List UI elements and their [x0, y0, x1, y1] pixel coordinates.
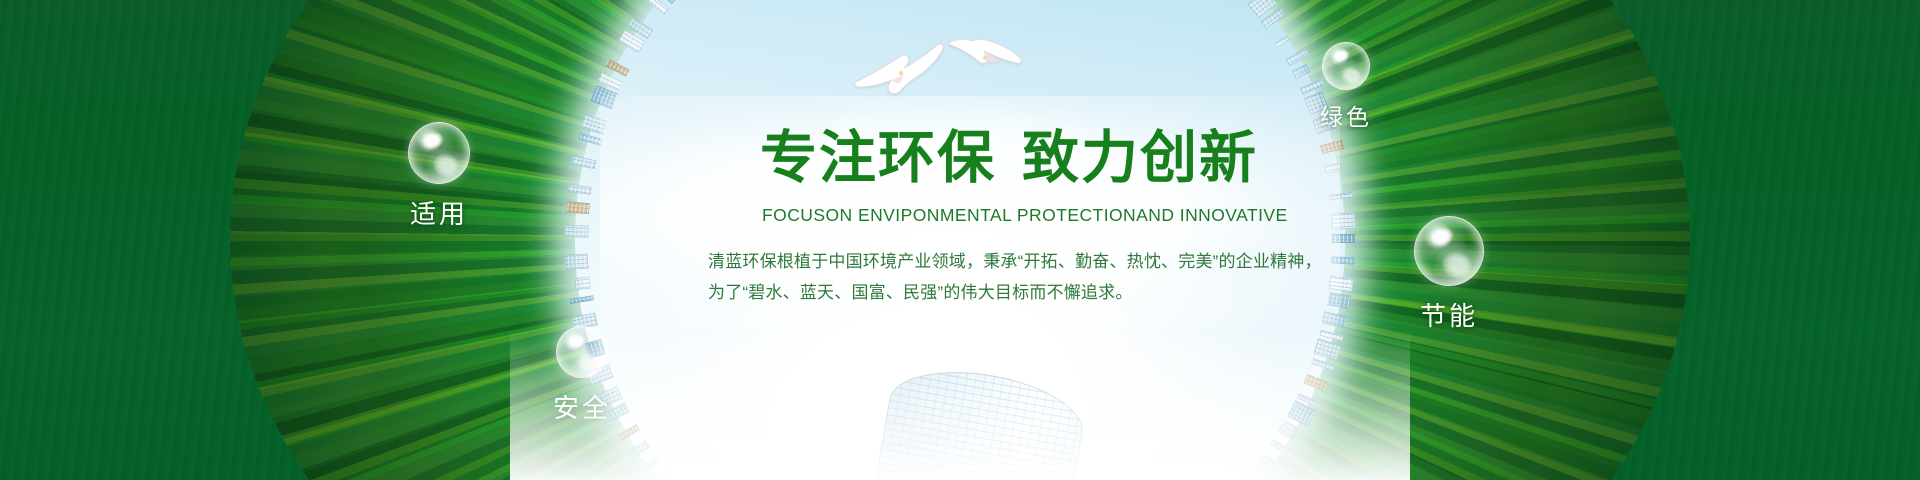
headline-subtitle: FOCUSON ENVIPONMENTAL PROTECTIONAND INNO… [762, 205, 1288, 226]
body-line-2: 为了“碧水、蓝天、国富、民强”的伟大目标而不懈追求。 [708, 277, 1322, 308]
body-copy: 清蓝环保根植于中国环境产业领域，秉承“开拓、勤奋、热忱、完美”的企业精神， 为了… [708, 246, 1322, 308]
headline-segment-1: 专注环保 [760, 130, 996, 187]
environmental-hero-banner: 适用 安全 绿色 节能 专注环保 致力创新 FOCUSON ENVIPONMEN… [0, 0, 1920, 480]
headline-segment-2: 致力创新 [1022, 130, 1258, 187]
page-title: 专注环保 致力创新 [760, 130, 1258, 187]
body-line-1: 清蓝环保根植于中国环境产业领域，秉承“开拓、勤奋、热忱、完美”的企业精神， [708, 246, 1322, 277]
copy-block: 专注环保 致力创新 FOCUSON ENVIPONMENTAL PROTECTI… [0, 0, 1920, 480]
